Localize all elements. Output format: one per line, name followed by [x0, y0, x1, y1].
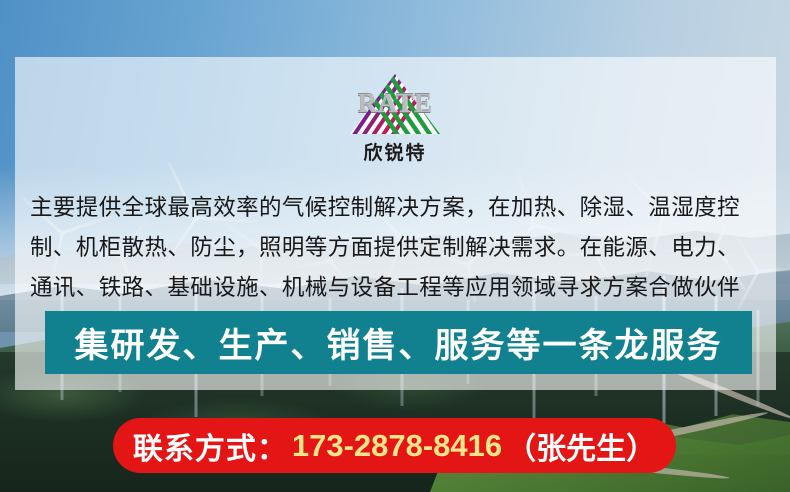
- description-paragraph: 主要提供全球最高效率的气候控制解决方案，在加热、除湿、温湿度控 制、机柜散热、防…: [30, 188, 770, 308]
- logo-chinese-name: 欣锐特: [363, 138, 426, 165]
- contact-phone-number[interactable]: 173-2878-8416: [288, 428, 506, 464]
- company-logo: RATE 欣锐特: [0, 73, 790, 165]
- contact-label: 联系方式：: [133, 424, 288, 468]
- slogan-band: 集研发、生产、销售、服务等一条龙服务: [45, 311, 752, 374]
- contact-pill[interactable]: 联系方式： 173-2878-8416 （张先生）: [113, 418, 676, 473]
- logo-wordmark: RATE: [349, 90, 441, 117]
- slogan-text: 集研发、生产、销售、服务等一条龙服务: [75, 318, 723, 367]
- rate-triangle-logo-icon: RATE: [349, 73, 441, 135]
- promo-banner: RATE 欣锐特 主要提供全球最高效率的气候控制解决方案，在加热、除湿、温湿度控…: [0, 0, 790, 492]
- paragraph-line-3: 通讯、铁路、基础设施、机械与设备工程等应用领域寻求方案合做伙伴: [30, 268, 770, 308]
- paragraph-line-1: 主要提供全球最高效率的气候控制解决方案，在加热、除湿、温湿度控: [30, 188, 770, 228]
- paragraph-line-2: 制、机柜散热、防尘，照明等方面提供定制解决需求。在能源、电力、: [30, 228, 770, 268]
- contact-person-name: （张先生）: [506, 424, 656, 468]
